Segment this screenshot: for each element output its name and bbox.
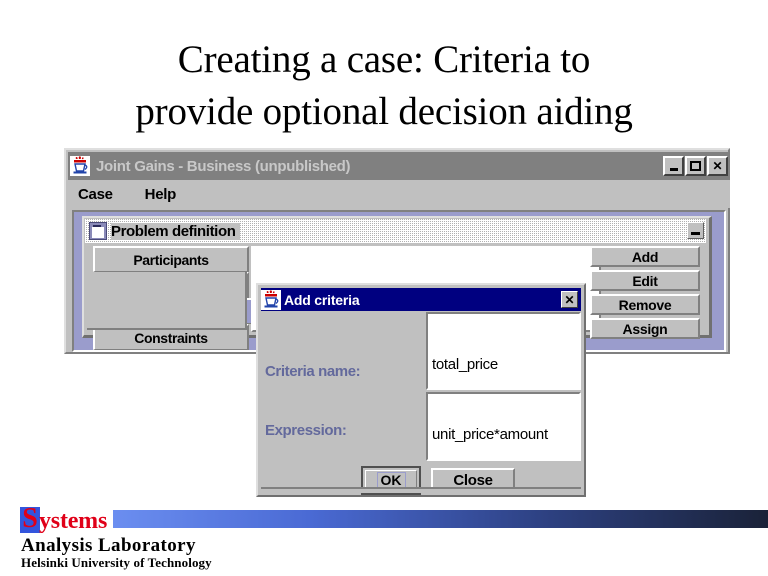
close-icon: ✕ [564, 294, 574, 306]
menu-item-case[interactable]: Case [78, 186, 113, 203]
expression-input[interactable]: unit_price*amount [426, 392, 581, 461]
window-close-button[interactable]: ✕ [707, 156, 728, 176]
close-icon: ✕ [709, 158, 726, 174]
dialog-status-bar [261, 487, 581, 493]
add-button-label: Add [632, 249, 658, 265]
edit-button[interactable]: Edit [590, 270, 700, 291]
window-title-text: Joint Gains - Business (unpublished) [96, 158, 662, 175]
remove-button[interactable]: Remove [590, 294, 700, 315]
page-title-line-2: provide optional decision aiding [0, 86, 768, 138]
logo-wordmark: ystems [39, 509, 107, 533]
tab-panel-filler [87, 272, 247, 330]
window-minimize-button[interactable] [663, 156, 684, 176]
document-window-icon [89, 222, 107, 240]
dialog-button-row: OK Close [261, 466, 581, 500]
dialog-title-text: Add criteria [284, 292, 561, 308]
criteria-name-input[interactable]: total_price [426, 312, 581, 390]
window-maximize-button[interactable] [685, 156, 706, 176]
tab-participants-label: Participants [133, 252, 208, 268]
menu-bar: Case Help [68, 180, 730, 208]
add-criteria-dialog: Add criteria ✕ Criteria name: total_pric… [256, 283, 586, 497]
page-title-line-1: Creating a case: Criteria to [0, 34, 768, 86]
logo-lab-name: Analysis Laboratory [21, 535, 196, 557]
footer-logo: S ystems Analysis Laboratory Helsinki Un… [0, 503, 768, 576]
internal-frame-title-text: Problem definition [111, 223, 240, 240]
tab-participants[interactable]: Participants [93, 246, 249, 272]
java-cup-icon [70, 156, 90, 176]
dialog-body: Criteria name: total_price Expression: u… [261, 311, 581, 492]
page-title: Creating a case: Criteria to provide opt… [0, 34, 768, 138]
dialog-close-button[interactable]: ✕ [561, 291, 578, 308]
menu-item-help[interactable]: Help [145, 186, 176, 203]
assign-button-label: Assign [623, 321, 668, 337]
logo-initial: S [20, 504, 40, 534]
add-button[interactable]: Add [590, 246, 700, 267]
window-titlebar[interactable]: Joint Gains - Business (unpublished) ✕ [68, 152, 730, 180]
assign-button[interactable]: Assign [590, 318, 700, 339]
logo-gradient-bar [113, 510, 768, 528]
internal-frame-titlebar[interactable]: Problem definition [85, 219, 706, 243]
logo-university-name: Helsinki University of Technology [21, 555, 212, 571]
dialog-titlebar[interactable]: Add criteria ✕ [261, 288, 581, 311]
criteria-action-buttons: Add Edit Remove Assign [590, 246, 700, 342]
java-cup-icon [261, 290, 281, 310]
internal-frame-minimize-button[interactable] [687, 222, 704, 239]
tab-constraints-label: Constraints [134, 330, 207, 346]
expression-label: Expression: [265, 422, 346, 439]
criteria-name-label: Criteria name: [265, 363, 360, 380]
remove-button-label: Remove [619, 297, 672, 313]
edit-button-label: Edit [632, 273, 657, 289]
